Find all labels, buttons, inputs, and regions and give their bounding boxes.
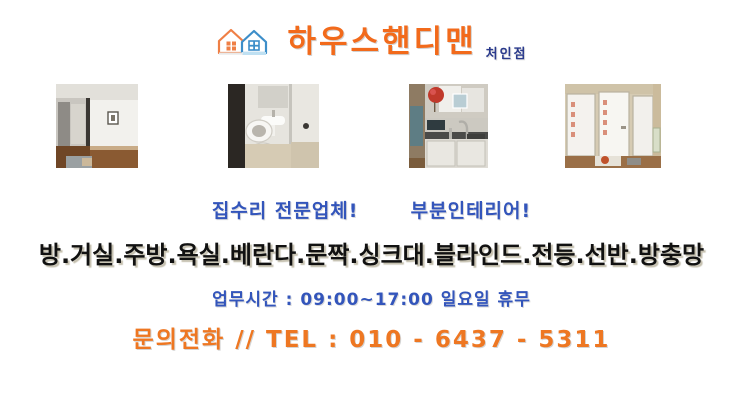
business-hours-row: 업무시간 : 09:00~17:00 일요일 휴무 (0, 285, 743, 310)
services-row: 방.거실.주방.욕실.베란다.문짝.싱크대.블라인드.전등.선반.방충망 (0, 235, 743, 270)
advertisement-banner: 하우스핸디맨 처인점 (0, 0, 743, 418)
business-hours: 업무시간 : 09:00~17:00 일요일 휴무 (212, 290, 531, 310)
services-list: 방.거실.주방.욕실.베란다.문짝.싱크대.블라인드.전등.선반.방충망 (39, 241, 704, 269)
tagline-left: 집수리 전문업체! (212, 200, 359, 222)
phone-row: 문의전화 // TEL : 010 - 6437 - 5311 (0, 320, 743, 354)
photo-entryway (565, 84, 661, 168)
photo-bathroom (228, 84, 319, 168)
photo-kitchen (409, 84, 488, 168)
photo-gallery (0, 84, 743, 168)
tagline-right: 부분인테리어! (411, 200, 532, 222)
phone-number: 문의전화 // TEL : 010 - 6437 - 5311 (133, 327, 611, 353)
tagline-row: 집수리 전문업체! 부분인테리어! (0, 196, 743, 223)
header: 하우스핸디맨 처인점 (0, 18, 743, 66)
two-houses-icon (215, 26, 273, 58)
brand-name: 하우스핸디맨 (287, 27, 476, 58)
photo-living-room (56, 84, 138, 168)
brand-branch-label: 처인점 (486, 43, 528, 66)
